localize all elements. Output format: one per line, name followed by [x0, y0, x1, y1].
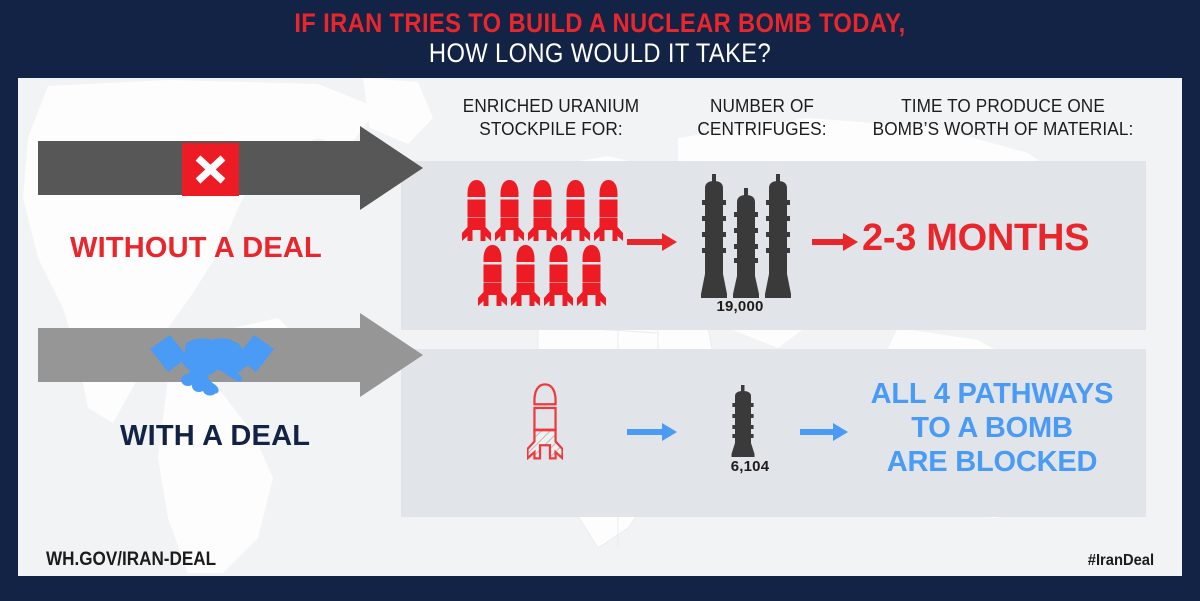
bomb-icon — [594, 180, 623, 241]
flow-arrow-blue-1 — [627, 423, 677, 441]
bomb-icon — [544, 245, 573, 306]
result-with-deal-line-3: ARE BLOCKED — [836, 446, 1148, 480]
bomb-icon — [462, 180, 491, 241]
bomb-icon — [511, 245, 540, 306]
bomb-stockpile-without-deal — [462, 180, 632, 310]
bomb-icon — [561, 180, 590, 241]
arrow-label-with-deal: WITH A DEAL — [120, 420, 310, 453]
result-without-deal: 2-3 MONTHS — [862, 217, 1089, 260]
bomb-icon — [577, 245, 606, 306]
footer-hashtag[interactable]: #IranDeal — [1088, 552, 1154, 570]
arrow-label-without-deal: WITHOUT A DEAL — [70, 232, 322, 265]
centrifuge-group-with-deal — [730, 385, 756, 457]
handshake-icon — [148, 331, 276, 397]
flow-arrow-red-1 — [627, 233, 677, 251]
centrifuge-count-without-deal: 19,000 — [680, 298, 800, 315]
headline-line-1: IF IRAN TRIES TO BUILD A NUCLEAR BOMB TO… — [72, 8, 1128, 38]
centrifuge-icon — [730, 385, 756, 457]
result-with-deal: ALL 4 PATHWAYS TO A BOMB ARE BLOCKED — [836, 378, 1148, 480]
centrifuge-icon — [700, 174, 728, 298]
column-header-time: TIME TO PRODUCE ONE BOMB’S WORTH OF MATE… — [855, 94, 1151, 141]
headline-line-2: HOW LONG WOULD IT TAKE? — [72, 38, 1128, 68]
column-header-centrifuges: NUMBER OF CENTRIFUGES: — [684, 94, 840, 141]
centrifuge-icon — [732, 188, 760, 298]
flow-arrow-red-2 — [812, 233, 858, 251]
bomb-icon-outline — [527, 382, 563, 460]
footer-url[interactable]: WH.GOV/IRAN-DEAL — [46, 549, 216, 571]
result-with-deal-line-1: ALL 4 PATHWAYS — [836, 378, 1148, 412]
infographic-poster: IF IRAN TRIES TO BUILD A NUCLEAR BOMB TO… — [0, 0, 1200, 601]
bomb-icon — [528, 180, 557, 241]
result-with-deal-line-2: TO A BOMB — [836, 412, 1148, 446]
bomb-stockpile-with-deal — [527, 382, 567, 460]
x-mark-icon — [182, 143, 239, 196]
bomb-icon — [478, 245, 507, 306]
centrifuge-icon — [764, 174, 792, 298]
centrifuge-count-with-deal: 6,104 — [690, 458, 810, 475]
bomb-icon — [495, 180, 524, 241]
headline: IF IRAN TRIES TO BUILD A NUCLEAR BOMB TO… — [0, 8, 1200, 68]
centrifuge-group-without-deal — [700, 174, 792, 298]
column-header-stockpile: ENRICHED URANIUM STOCKPILE FOR: — [444, 94, 658, 141]
